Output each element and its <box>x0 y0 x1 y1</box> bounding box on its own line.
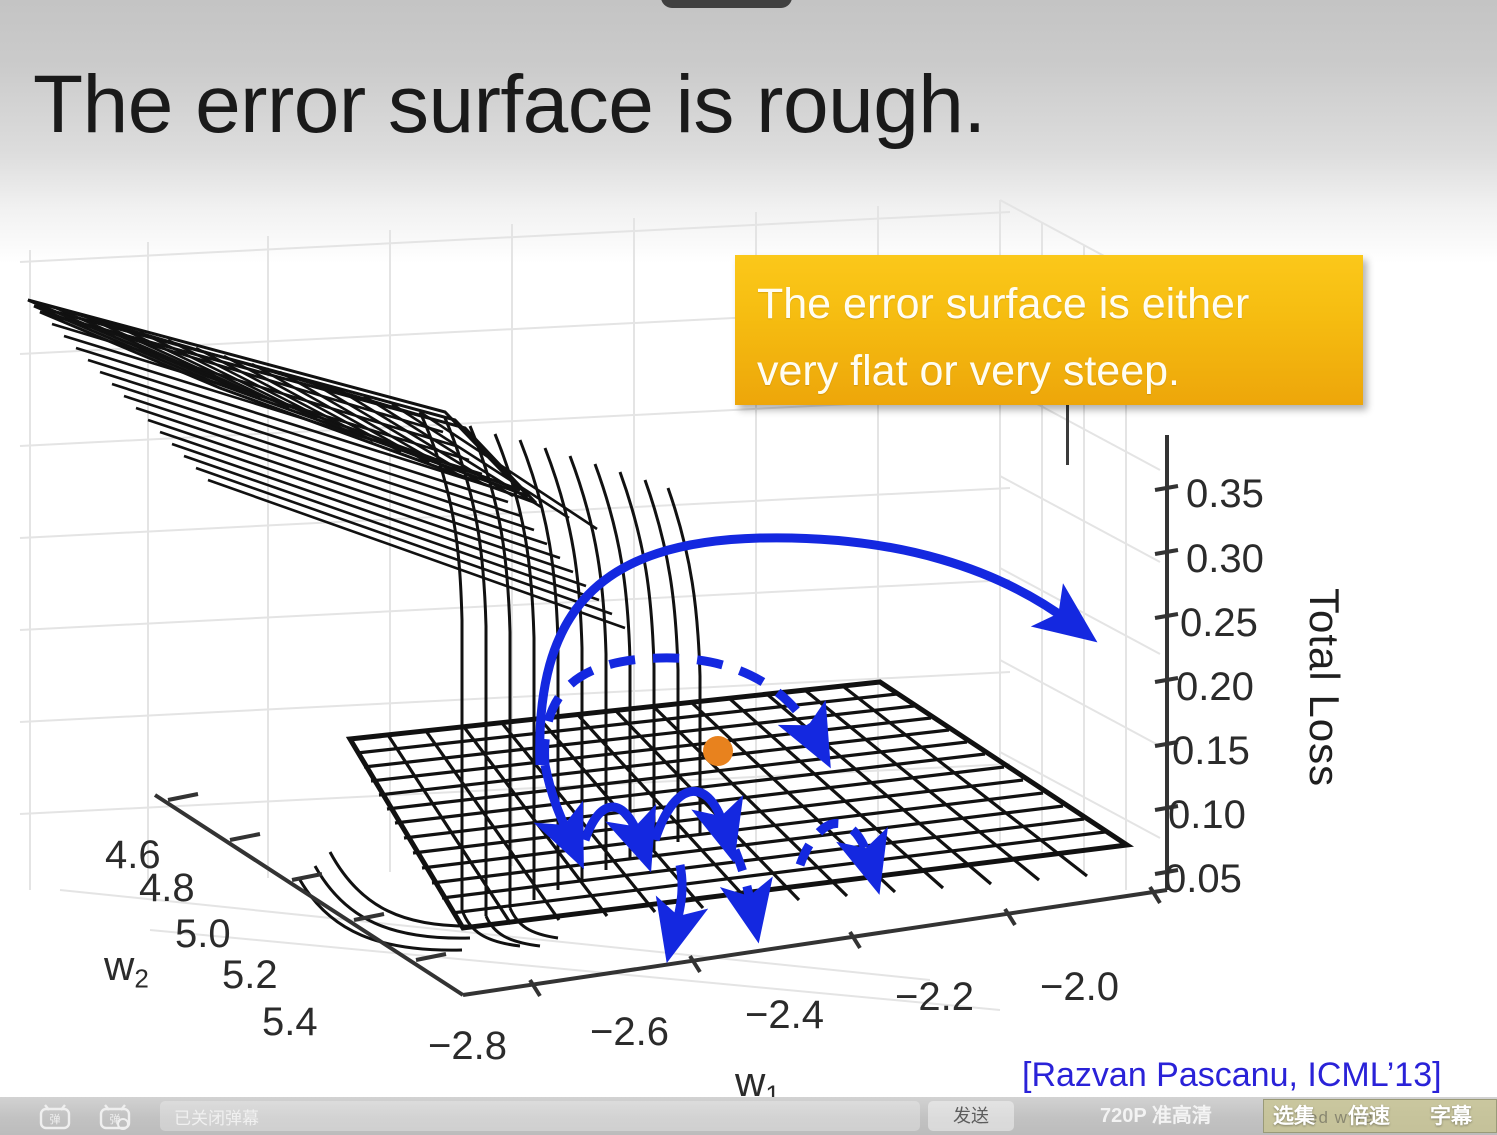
w2-tick-3: 5.2 <box>222 953 278 998</box>
w2-tick-1: 4.8 <box>139 866 195 911</box>
subtitle-button[interactable]: 字幕 <box>1430 1103 1472 1131</box>
slide-canvas: The error surface is rough. <box>0 0 1497 1097</box>
w1-tick-2: −2.4 <box>745 993 824 1038</box>
danmaku-input[interactable]: 已关闭弹幕 <box>160 1101 920 1131</box>
send-button[interactable]: 发送 <box>928 1101 1014 1131</box>
callout-line-2: very flat or very steep. <box>757 338 1341 405</box>
annotation-arrows <box>540 538 1070 930</box>
toast-notification <box>661 0 792 8</box>
svg-text:弹: 弹 <box>50 1112 61 1126</box>
citation-text: [Razvan Pascanu, ICML’13] <box>1022 1056 1442 1095</box>
callout-box: The error surface is either very flat or… <box>735 255 1363 405</box>
page-title: The error surface is rough. <box>33 64 986 146</box>
video-player-bar: 弹 弹 已关闭弹幕 发送 720P 准高清 ed w ve 选集 倍速 字幕 <box>0 1097 1497 1135</box>
w1-tick-1: −2.6 <box>590 1010 669 1055</box>
danmaku-tv-icon[interactable]: 弹 <box>38 1102 72 1130</box>
w2-tick-4: 5.4 <box>262 1000 318 1045</box>
w2-axis-label-text: w <box>104 942 134 989</box>
w1-axis-label-text: w <box>735 1058 765 1097</box>
z-axis-label: Total Loss <box>1300 588 1348 787</box>
z-tick-3: 0.20 <box>1176 665 1254 710</box>
surface-flat-plain <box>350 680 1127 928</box>
marker-point <box>703 736 733 766</box>
z-tick-4: 0.15 <box>1172 729 1250 774</box>
z-tick-6: 0.05 <box>1164 857 1242 902</box>
z-tick-2: 0.25 <box>1180 601 1258 646</box>
playback-speed-button[interactable]: 倍速 <box>1348 1103 1390 1131</box>
callout-line-1: The error surface is either <box>757 271 1341 338</box>
episodes-button[interactable]: 选集 <box>1273 1103 1315 1131</box>
w2-axis-label: w2 <box>104 942 149 994</box>
w1-tick-0: −2.8 <box>428 1024 507 1069</box>
w1-tick-3: −2.2 <box>895 975 974 1020</box>
player-control-group: ed w ve 选集 倍速 字幕 <box>1263 1099 1497 1133</box>
quality-selector[interactable]: 720P 准高清 <box>1100 1101 1212 1131</box>
callout-stem <box>1066 405 1069 465</box>
z-tick-1: 0.30 <box>1186 537 1264 582</box>
z-tick-5: 0.10 <box>1168 793 1246 838</box>
w1-axis-label: w1 <box>735 1058 780 1097</box>
w2-axis-label-subscript: 2 <box>134 963 148 993</box>
z-tick-0: 0.35 <box>1186 472 1264 517</box>
danmaku-settings-icon[interactable]: 弹 <box>98 1102 132 1130</box>
w2-tick-2: 5.0 <box>175 912 231 957</box>
w1-axis-label-subscript: 1 <box>765 1079 779 1097</box>
w2-axis <box>155 795 463 995</box>
w1-tick-4: −2.0 <box>1040 965 1119 1010</box>
